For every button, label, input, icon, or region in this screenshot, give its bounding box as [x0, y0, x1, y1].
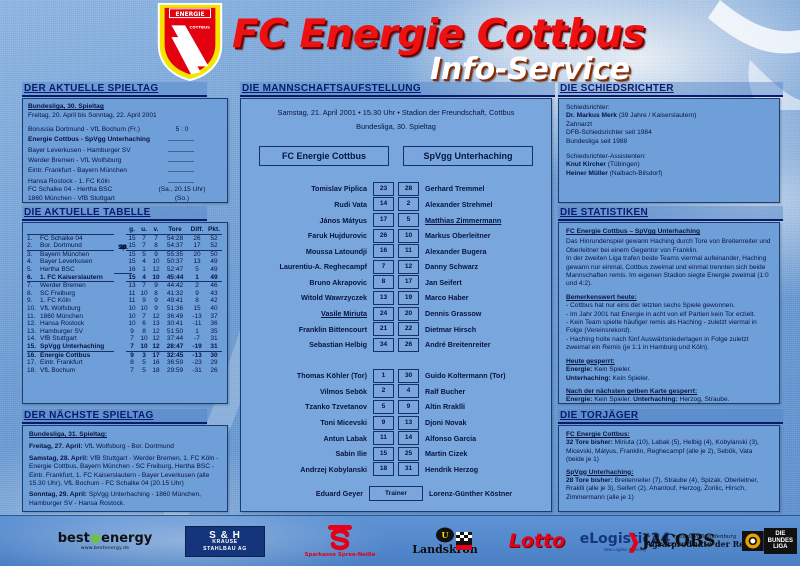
cell-club: 1860 München — [40, 313, 114, 321]
cell-club: Hertha BSC — [40, 266, 114, 274]
home-player-name: Laurentiu-A. Reghecampf — [257, 262, 373, 271]
cell-pkt: 49 — [206, 266, 222, 274]
cell-pos: 7. — [27, 282, 40, 290]
away-player-number: 25 — [398, 447, 419, 461]
cell-v: 18 — [150, 367, 162, 375]
assistant-row: Knut Kircher (Tübingen) — [566, 161, 772, 169]
away-trainer: Lorenz-Günther Köstner — [423, 489, 539, 498]
cell-club: 1. FC Köln — [40, 297, 114, 305]
cell-v: 10 — [150, 274, 162, 282]
cell-u: 10 — [138, 305, 150, 313]
home-player-number: 7 — [373, 260, 394, 274]
away-player-number: 4 — [398, 384, 419, 398]
fixture-teams: Hansa Rostock - 1. FC Köln — [28, 178, 156, 186]
cell-diff: 5 — [188, 266, 206, 274]
fixture-teams: Bayer Leverkusen - Hamburger SV — [28, 147, 156, 155]
away-player-number: 17 — [398, 275, 419, 289]
referee-detail: (39 Jahre / Kaiserslautern) — [619, 112, 697, 119]
cell-diff: -19 — [188, 343, 206, 351]
table-row: 12.Hansa Rostock291061330:41-1136 — [27, 320, 222, 328]
home-player-number: 26 — [373, 229, 394, 243]
sponsor-sparkasse[interactable]: Sparkasse Spree-Neiße — [285, 516, 395, 566]
cell-pos: 2. — [27, 242, 40, 250]
home-player-name: Witold Wawrzyczek — [257, 293, 373, 302]
cell-tore: 49:41 — [162, 297, 188, 305]
home-player-name: Andrzej Kobylanski — [257, 465, 373, 474]
cell-pkt: 49 — [206, 258, 222, 266]
home-player-name: Sabin Ilie — [257, 449, 373, 458]
lineup-row: Faruk Hujdurovic2610Markus Oberleitner — [241, 229, 551, 243]
away-player-number: 31 — [398, 462, 419, 476]
home-player-number: 13 — [373, 291, 394, 305]
cell-pos: 15. — [27, 343, 40, 351]
away-player-name: Gerhard Tremmel — [419, 184, 535, 193]
standings-table: Sp. g. u. v. Tore Diff. Pkt. 1.FC Schalk… — [27, 226, 222, 374]
trainer-label: Trainer — [369, 486, 423, 501]
cell-diff: 17 — [188, 242, 206, 250]
scorers-panel: FC Energie Cottbus: 32 Tore bisher: Miri… — [558, 425, 780, 512]
sponsor-best-energy[interactable]: best◉energy www.bestenergy.de — [40, 516, 170, 566]
table-row: 8.SC Freiburg291110841:32943 — [27, 290, 222, 298]
cell-g: 9 — [126, 328, 138, 336]
away-player-name: Danny Schwarz — [419, 262, 535, 271]
cell-tore: 32:45 — [162, 351, 188, 359]
home-player-name: Toni Micevski — [257, 418, 373, 427]
cell-u: 4 — [138, 258, 150, 266]
home-player-name: Vasile Miriuta — [257, 309, 373, 318]
suspended-heading: Heute gesperrt: — [566, 358, 772, 366]
statistics-notable-item: - Cottbus hat nur eins der letzten sechs… — [566, 302, 772, 310]
cell-u: 8 — [138, 328, 150, 336]
section-heading-statistics: DIE STATISTIKEN — [558, 206, 783, 221]
cell-pkt: 52 — [206, 234, 222, 242]
fixture-row: Bayer Leverkusen - Hamburger SV — [28, 145, 222, 155]
cell-club: VfL Bochum — [40, 367, 114, 375]
cell-club: Bayern München — [40, 250, 114, 258]
home-player-name: Faruk Hujdurovic — [257, 231, 373, 240]
lineup-row: Witold Wawrzyczek1319Marco Haber — [241, 291, 551, 305]
fixture-score — [156, 165, 208, 175]
cell-u: 7 — [138, 282, 150, 290]
lineup-row: Vilmos Sebök24Ralf Bucher — [241, 384, 551, 398]
sponsor-lotto-name: Lotto — [509, 530, 565, 552]
cell-sp: 30 — [114, 223, 132, 273]
cell-g: 10 — [126, 313, 138, 321]
fixture-row: Eintr. Frankfurt - Bayern München — [28, 165, 222, 175]
cell-tore: 36:59 — [162, 359, 188, 367]
cell-u: 3 — [138, 351, 150, 359]
cell-pos: 6. — [27, 274, 40, 282]
cell-v: 16 — [150, 359, 162, 367]
cell-u: 10 — [138, 290, 150, 298]
cell-pkt: 29 — [206, 359, 222, 367]
section-heading-lineups: DIE MANNSCHAFTSAUFSTELLUNG — [240, 82, 555, 97]
cell-tore: 30:41 — [162, 320, 188, 328]
section-heading-matchday: DER AKTUELLE SPIELTAG — [22, 82, 207, 97]
away-player-number: 30 — [398, 369, 419, 383]
home-player-number: 2 — [373, 384, 394, 398]
cell-diff: -13 — [188, 351, 206, 359]
home-player-name: Rudi Vata — [257, 200, 373, 209]
home-player-number: 21 — [373, 322, 394, 336]
cell-u: 7 — [138, 242, 150, 250]
fixture-row: Borussia Dortmund - VfL Bochum (Fr.)5 : … — [28, 126, 222, 134]
cell-tore: 36:49 — [162, 313, 188, 321]
sparkasse-icon — [325, 525, 355, 551]
cell-u: 7 — [138, 234, 150, 242]
cell-diff: 8 — [188, 297, 206, 305]
assistant-name: Knut Kircher — [566, 161, 606, 168]
fixture-row: Energie Cottbus - SpVgg Unterhaching — [28, 134, 222, 144]
cell-g: 13 — [126, 282, 138, 290]
cell-pkt: 52 — [206, 242, 222, 250]
away-player-number: 22 — [398, 322, 419, 336]
table-row: 10.VfL Wolfsburg291010951:361540 — [27, 305, 222, 313]
home-player-number: 5 — [373, 400, 394, 414]
col-pkt: Pkt. — [206, 226, 222, 234]
cell-u: 10 — [138, 335, 150, 343]
home-player-number: 17 — [373, 213, 394, 227]
cell-v: 12 — [150, 328, 162, 336]
lineups-panel: Samstag, 21. April 2001 • 15.30 Uhr • St… — [240, 98, 552, 512]
col-u: u. — [138, 226, 150, 234]
lineup-row: Franklin Bittencourt2122Dietmar Hirsch — [241, 322, 551, 336]
cell-club: FC Schalke 04 — [40, 234, 114, 242]
cell-u: 1 — [138, 266, 150, 274]
cell-club: VfB Stuttgart — [40, 335, 114, 343]
section-heading-table: DIE AKTUELLE TABELLE — [22, 206, 207, 221]
home-player-number: 15 — [373, 447, 394, 461]
away-player-name: Ralf Bucher — [419, 387, 535, 396]
crest-bottom-text: COTTBUS — [190, 24, 211, 29]
statistics-matchup-heading: FC Energie Cottbus – SpVgg Unterhaching — [566, 228, 772, 236]
cell-g: 8 — [126, 359, 138, 367]
next-matchday-line: Sonntag, 29. April: SpVgg Unterhaching -… — [29, 491, 221, 508]
match-info-line: Samstag, 21. April 2001 • 15.30 Uhr • St… — [241, 109, 551, 117]
sponsor-sh-sub: KRAUSE STAHLBAU AG — [195, 539, 255, 553]
cell-club: SpVgg Unterhaching — [40, 343, 114, 351]
suspended-item: Energie: Kein Spieler. — [566, 366, 772, 374]
cell-pos: 9. — [27, 297, 40, 305]
away-player-name: André Breitenreiter — [419, 340, 535, 349]
cell-pkt: 35 — [206, 328, 222, 336]
away-player-name: Djoni Novak — [419, 418, 535, 427]
cell-pkt: 42 — [206, 297, 222, 305]
away-player-name: Markus Oberleitner — [419, 231, 535, 240]
cell-club: Werder Bremen — [40, 282, 114, 290]
lineup-row: János Mátyus175Matthias Zimmermann — [241, 213, 551, 227]
cell-pkt: 30 — [206, 351, 222, 359]
table-row: 6.1. FC Kaiserslautern291541045:44149 — [27, 274, 222, 282]
away-team-box: SpVgg Unterhaching — [403, 146, 533, 166]
sponsor-sh-krause[interactable]: S & H KRAUSE STAHLBAU AG — [185, 516, 265, 566]
col-club — [40, 226, 114, 234]
away-player-name: Dennis Grassow — [419, 309, 535, 318]
cell-pkt: 26 — [206, 367, 222, 375]
away-player-number: 19 — [398, 291, 419, 305]
cell-diff: 26 — [188, 234, 206, 242]
fixture-score: (So.) — [156, 195, 208, 203]
sponsor-bundesliga[interactable]: DIEBUNDESLIGA — [742, 516, 797, 566]
col-tore: Tore — [162, 226, 188, 234]
home-player-number: 16 — [373, 244, 394, 258]
fixture-row: FC Schalke 04 - Hertha BSC(Sa., 20.15 Uh… — [28, 186, 222, 194]
assistants-list: Knut Kircher (Tübingen)Heiner Müller (Na… — [566, 161, 772, 178]
cell-pos: 4. — [27, 258, 40, 266]
away-player-name: Guido Koltermann (Tor) — [419, 371, 535, 380]
lineup-row: Sebastian Helbig3426André Breitenreiter — [241, 338, 551, 352]
suspended-item-value: Kein Spieler. — [594, 366, 631, 373]
cell-pos: 3. — [27, 250, 40, 258]
away-player-number: 20 — [398, 307, 419, 321]
home-player-number: 23 — [373, 182, 394, 196]
assistant-detail: (Tübingen) — [608, 161, 640, 168]
cell-pkt: 37 — [206, 313, 222, 321]
away-player-name: Matthias Zimmermann — [419, 216, 535, 225]
cell-diff: -23 — [188, 359, 206, 367]
section-heading-next-matchday: DER NÄCHSTE SPIELTAG — [22, 409, 207, 424]
cell-pos: 16. — [27, 351, 40, 359]
statistics-notable-heading: Bemerkenswert heute: — [566, 294, 772, 302]
cell-u: 5 — [138, 359, 150, 367]
table-row: 11.1860 München291071236:49-1337 — [27, 313, 222, 321]
lineup-row: Rudi Vata142Alexander Strehmel — [241, 197, 551, 211]
suspended-item: Unterhaching: Kein Spieler. — [566, 375, 772, 383]
cell-u: 7 — [138, 313, 150, 321]
away-player-number: 12 — [398, 260, 419, 274]
yellow-card-item: Energie: Kein Spieler. Unterhaching: Her… — [566, 396, 772, 404]
away-player-number: 14 — [398, 431, 419, 445]
sponsor-landskron[interactable]: U Landskron — [395, 516, 495, 566]
scorers-home-total: 32 Tore bisher: — [566, 439, 613, 446]
fixture-teams: Borussia Dortmund - VfL Bochum (Fr.) — [28, 126, 156, 134]
cell-diff: -11 — [188, 320, 206, 328]
table-row: 15.SpVgg Unterhaching297101228:47-1931 — [27, 343, 222, 351]
cell-g: 11 — [126, 290, 138, 298]
away-player-number: 5 — [398, 213, 419, 227]
assistant-row: Heiner Müller (Nalbach-Bilsdorf) — [566, 170, 772, 178]
cell-pos: 12. — [27, 320, 40, 328]
cell-pkt: 40 — [206, 305, 222, 313]
home-player-number: 11 — [373, 431, 394, 445]
suspended-list: Energie: Kein Spieler.Unterhaching: Kein… — [566, 366, 772, 383]
home-player-number: 34 — [373, 338, 394, 352]
cell-pos: 14. — [27, 335, 40, 343]
scorers-away-row: 28 Tore bisher: Breitenreiter (7), Strau… — [566, 477, 772, 502]
cell-pkt: 50 — [206, 250, 222, 258]
referee-name-row: Dr. Markus Merk (39 Jahre / Kaiserslaute… — [566, 112, 772, 120]
home-player-name: Thomas Köhler (Tor) — [257, 371, 373, 380]
cell-v: 12 — [150, 335, 162, 343]
home-player-number: 1 — [373, 369, 394, 383]
away-player-name: Altin Rraklli — [419, 402, 535, 411]
next-matchday-line: Freitag, 27. April: VfL Wolfsburg - Bor.… — [29, 443, 221, 451]
cell-u: 5 — [138, 367, 150, 375]
lineup-row: Tzanko Tzvetanov59Altin Rraklli — [241, 400, 551, 414]
standings-panel: Sp. g. u. v. Tore Diff. Pkt. 1.FC Schalk… — [22, 222, 228, 404]
home-trainer: Eduard Geyer — [253, 489, 369, 498]
cell-tore: 37:44 — [162, 335, 188, 343]
cell-g: 7 — [126, 367, 138, 375]
away-player-number: 10 — [398, 229, 419, 243]
away-player-name: Alfonso Garcia — [419, 434, 535, 443]
table-row: 17.Eintr. Frankfurt29851636:59-2329 — [27, 359, 222, 367]
cell-u: 6 — [138, 320, 150, 328]
statistics-notable-item: - Im Jahr 2001 hat Energie in acht von e… — [566, 311, 772, 319]
home-player-number: 18 — [373, 462, 394, 476]
referee-profession: Zahnarzt — [566, 121, 772, 129]
fixture-teams: 1860 München - VfB Stuttgart — [28, 195, 156, 203]
lineup-row: Andrzej Kobylanski1831Hendrik Herzog — [241, 462, 551, 476]
home-player-name: Antun Labak — [257, 434, 373, 443]
cell-v: 9 — [150, 250, 162, 258]
cell-pkt: 36 — [206, 320, 222, 328]
section-heading-scorers: DIE TORJÄGER — [558, 409, 783, 424]
cell-diff: 15 — [188, 305, 206, 313]
away-player-name: Jan Seifert — [419, 278, 535, 287]
cell-v: 10 — [150, 258, 162, 266]
yellow-card-list: Energie: Kein Spieler. Unterhaching: Her… — [566, 396, 772, 404]
cell-diff: 1 — [188, 274, 206, 282]
cell-pos: 1. — [27, 234, 40, 242]
table-row: 9.1. FC Köln29119949:41842 — [27, 297, 222, 305]
cell-club: VfL Wolfsburg — [40, 305, 114, 313]
referee-label: Schiedsrichter: — [566, 104, 772, 112]
table-row: 7.Werder Bremen29137944:42246 — [27, 282, 222, 290]
cell-pkt: 43 — [206, 290, 222, 298]
cell-tore: 54:28 — [162, 234, 188, 242]
sponsor-bundesliga-name: DIEBUNDESLIGA — [764, 528, 797, 554]
cell-diff: -13 — [188, 313, 206, 321]
cell-pos: 11. — [27, 313, 40, 321]
yellow-card-heading: Nach der nächsten gelben Karte gesperrt: — [566, 388, 772, 396]
lineup-row: Toni Micevski913Djoni Novak — [241, 416, 551, 430]
fixture-score — [156, 176, 208, 186]
cell-v: 12 — [150, 343, 162, 351]
assistant-name: Heiner Müller — [566, 170, 608, 177]
club-crest-icon: ENERGIE COTTBUS — [155, 2, 225, 82]
substitutes-list: Thomas Köhler (Tor)130Guido Koltermann (… — [241, 369, 551, 477]
suspended-item-team: Energie: — [566, 366, 592, 373]
referee-dfb-since: DFB-Schiedsrichter seit 1984 — [566, 129, 772, 137]
fixture-row: Hansa Rostock - 1. FC Köln — [28, 176, 222, 186]
cell-pos: 18. — [27, 367, 40, 375]
away-player-name: Hendrik Herzog — [419, 465, 535, 474]
home-team-box: FC Energie Cottbus — [259, 146, 389, 166]
statistics-notable-list: - Cottbus hat nur eins der letzten sechs… — [566, 302, 772, 352]
cell-diff: -7 — [188, 335, 206, 343]
fixture-score: (Sa., 20.15 Uhr) — [156, 186, 208, 194]
assistants-label: Schiedsrichter-Assistenten: — [566, 153, 772, 161]
matchday-panel: Bundesliga, 30. Spieltag Freitag, 20. Ap… — [22, 98, 228, 203]
cell-u: 10 — [138, 343, 150, 351]
cell-pos: 8. — [27, 290, 40, 298]
fixture-list: Borussia Dortmund - VfL Bochum (Fr.)5 : … — [28, 126, 222, 203]
cell-diff: 1 — [188, 328, 206, 336]
next-matchday-panel: Bundesliga, 31. Spieltag: Freitag, 27. A… — [22, 425, 228, 512]
cell-pos: 17. — [27, 359, 40, 367]
fixture-score — [156, 155, 208, 165]
cell-tore: 52:47 — [162, 266, 188, 274]
sponsor-sparkasse-sub: Sparkasse Spree-Neiße — [305, 552, 376, 558]
cell-g: 7 — [126, 335, 138, 343]
cell-club: Hamburger SV — [40, 328, 114, 336]
away-player-name: Alexander Strehmel — [419, 200, 535, 209]
trainer-row: Eduard Geyer Trainer Lorenz-Günther Köst… — [241, 486, 551, 500]
home-player-number: 9 — [373, 416, 394, 430]
home-player-name: Tzanko Tzvetanov — [257, 402, 373, 411]
next-matchday-line: Samstag, 28. April: VfB Stuttgart - Werd… — [29, 455, 221, 489]
cell-v: 8 — [150, 242, 162, 250]
home-player-number: 14 — [373, 197, 394, 211]
home-player-name: Bruno Akrapovic — [257, 278, 373, 287]
statistics-notable-item: - Kein Team spielte häufiger remis als H… — [566, 319, 772, 336]
section-heading-referees: DIE SCHIEDSRICHTER — [558, 82, 783, 97]
fixture-teams: Werder Bremen - VfL Wolfsburg — [28, 157, 156, 165]
cell-v: 9 — [150, 305, 162, 313]
matchday-heading: Bundesliga, 30. Spieltag — [28, 103, 222, 111]
away-player-name: Martin Cizek — [419, 449, 535, 458]
home-player-name: Sebastian Helbig — [257, 340, 373, 349]
cell-tore: 45:44 — [162, 274, 188, 282]
next-matchday-heading: Bundesliga, 31. Spieltag: — [29, 431, 221, 439]
away-player-number: 11 — [398, 244, 419, 258]
fixture-score: 5 : 0 — [156, 126, 208, 134]
bundesliga-ball-icon — [742, 529, 764, 553]
table-row: 18.VfL Bochum30751829:59-3126 — [27, 367, 222, 375]
home-player-name: János Mátyus — [257, 216, 373, 225]
statistics-paragraphs: Das Hinrundenspiel gewann Haching durch … — [566, 238, 772, 288]
away-player-number: 13 — [398, 416, 419, 430]
away-player-name: Dietmar Hirsch — [419, 325, 535, 334]
cell-tore: 55:35 — [162, 250, 188, 258]
cell-diff: 2 — [188, 282, 206, 290]
statistics-panel: FC Energie Cottbus – SpVgg Unterhaching … — [558, 222, 780, 404]
home-player-name: Vilmos Sebök — [257, 387, 373, 396]
table-row: 13.Hamburger SV29981251:50135 — [27, 328, 222, 336]
cell-v: 17 — [150, 351, 162, 359]
cell-tore: 54:37 — [162, 242, 188, 250]
away-player-name: Alexander Bugera — [419, 247, 535, 256]
cell-pkt: 49 — [206, 274, 222, 282]
cell-v: 9 — [150, 297, 162, 305]
home-player-number: 8 — [373, 275, 394, 289]
sponsor-bar: best◉energy www.bestenergy.de S & H KRAU… — [0, 515, 800, 566]
referee-name: Dr. Markus Merk — [566, 112, 617, 119]
cell-tore: 41:32 — [162, 290, 188, 298]
statistics-paragraph: Das Hinrundenspiel gewann Haching durch … — [566, 238, 772, 255]
fixture-row: 1860 München - VfB Stuttgart(So.) — [28, 195, 222, 203]
cell-v: 9 — [150, 282, 162, 290]
lineup-row: Thomas Köhler (Tor)130Guido Koltermann (… — [241, 369, 551, 383]
fixture-teams: Energie Cottbus - SpVgg Unterhaching — [28, 136, 156, 144]
cell-pkt: 46 — [206, 282, 222, 290]
statistics-notable-item: - Haching holte nach fünf Auswärtsnieder… — [566, 336, 772, 353]
sponsor-checkerboard-icon — [452, 516, 476, 566]
home-player-number: 24 — [373, 307, 394, 321]
cell-diff: 13 — [188, 258, 206, 266]
home-player-name: Moussa Latoundji — [257, 247, 373, 256]
cell-club: Bayer Leverkusen — [40, 258, 114, 266]
fixture-score — [156, 134, 208, 144]
cell-tore: 51:36 — [162, 305, 188, 313]
col-v: v. — [150, 226, 162, 234]
table-row: 14.VfB Stuttgart297101237:44-731 — [27, 335, 222, 343]
sponsor-best-energy-url: www.bestenergy.de — [58, 546, 153, 551]
away-player-number: 9 — [398, 400, 419, 414]
cell-v: 8 — [150, 290, 162, 298]
cell-u: 5 — [138, 250, 150, 258]
